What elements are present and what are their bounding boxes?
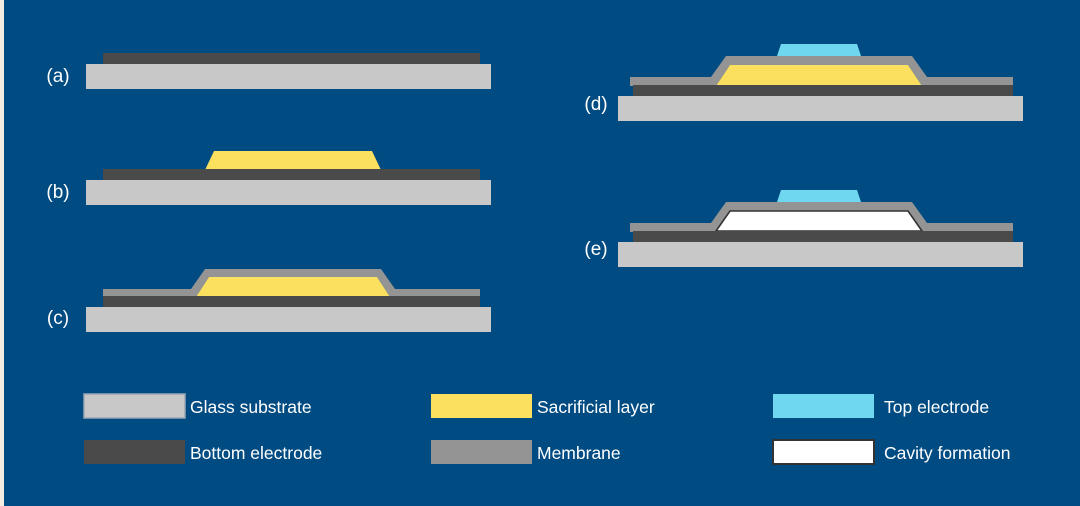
- panel-b-sacrificial-layer: [205, 151, 381, 170]
- panel-c-sacrificial-layer: [196, 277, 390, 297]
- panel-e-label: (e): [584, 239, 607, 260]
- panel-d: (d): [584, 44, 1023, 121]
- panel-e-glass-substrate: [618, 242, 1023, 267]
- panel-d-sacrificial-layer: [716, 65, 922, 86]
- panel-a: (a): [46, 53, 491, 89]
- legend-item-cavity-formation: Cavity formation: [773, 440, 1010, 464]
- process-flow-diagram: (a) (b) (c) (d): [0, 0, 1080, 506]
- panel-e: (e): [584, 190, 1023, 267]
- panel-a-glass-substrate: [86, 64, 491, 89]
- legend-label-top-electrode: Top electrode: [884, 397, 989, 417]
- panel-d-label: (d): [584, 94, 607, 115]
- panel-b-bottom-electrode: [103, 169, 480, 180]
- legend-label-bottom-electrode: Bottom electrode: [190, 443, 322, 463]
- panel-c-glass-substrate: [86, 307, 491, 332]
- legend-label-membrane: Membrane: [537, 443, 621, 463]
- panel-c: (c): [47, 269, 491, 332]
- legend-label-cavity-formation: Cavity formation: [884, 443, 1010, 463]
- panel-a-bottom-electrode: [103, 53, 480, 64]
- legend-label-sacrificial-layer: Sacrificial layer: [537, 397, 655, 417]
- legend-item-bottom-electrode: Bottom electrode: [84, 440, 322, 464]
- legend-item-glass-substrate: Glass substrate: [84, 394, 312, 418]
- legend-swatch-sacrificial-layer: [431, 394, 532, 418]
- legend-label-glass-substrate: Glass substrate: [190, 397, 312, 417]
- legend: Glass substrate Bottom electrode Sacrifi…: [84, 394, 1010, 464]
- figure-root: (a) (b) (c) (d): [0, 0, 1080, 506]
- legend-swatch-bottom-electrode: [84, 440, 185, 464]
- panel-b: (b): [46, 151, 491, 205]
- panel-c-bottom-electrode: [103, 296, 480, 307]
- legend-swatch-cavity-formation: [773, 440, 874, 464]
- panel-e-bottom-electrode: [633, 231, 1013, 242]
- panel-b-glass-substrate: [86, 180, 491, 205]
- legend-swatch-top-electrode: [773, 394, 874, 418]
- legend-swatch-glass-substrate: [84, 394, 185, 418]
- panel-e-cavity-formation: [716, 211, 922, 231]
- panel-b-label: (b): [46, 182, 69, 203]
- legend-item-top-electrode: Top electrode: [773, 394, 989, 418]
- legend-item-sacrificial-layer: Sacrificial layer: [431, 394, 655, 418]
- legend-item-membrane: Membrane: [431, 440, 621, 464]
- panel-c-label: (c): [47, 308, 69, 329]
- panel-a-label: (a): [46, 66, 69, 87]
- panel-d-bottom-electrode: [633, 85, 1013, 96]
- legend-swatch-membrane: [431, 440, 532, 464]
- panel-d-glass-substrate: [618, 96, 1023, 121]
